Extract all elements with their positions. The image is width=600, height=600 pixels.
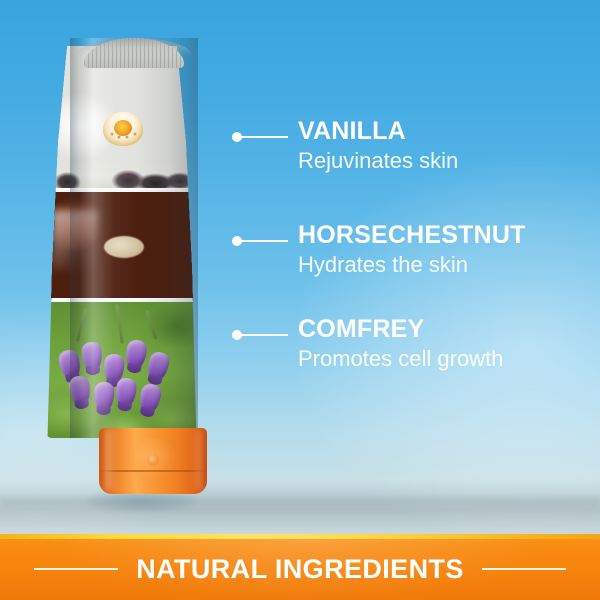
chestnut-pale-shell [104,236,144,258]
callout-subtitle: Rejuvinates skin [298,149,458,173]
bottom-banner: NATURAL INGREDIENTS [0,534,600,600]
callout-title: COMFREY [298,316,503,342]
callout-title: HORSECHESTNUT [298,222,526,248]
cap-highlight-right [189,430,202,490]
callout-text-group: HORSECHESTNUT Hydrates the skin [298,222,526,277]
product-tube [58,38,210,498]
cap-highlight-left [105,430,121,490]
banner-rule-left [34,568,118,570]
vanilla-pods [46,164,198,190]
callout-text-group: COMFREY Promotes cell growth [298,316,503,371]
callout-leader-line [232,136,288,138]
banner-content: NATURAL INGREDIENTS [0,534,600,600]
banner-title: NATURAL INGREDIENTS [136,554,464,585]
callout-title: VANILLA [298,118,458,144]
callout-leader-line [232,334,288,336]
orchid-stamen [108,130,140,144]
tube-body [46,38,198,438]
tube-band-comfrey [46,302,198,438]
callout-text-group: VANILLA Rejuvinates skin [298,118,458,173]
tube-seal-edge [76,38,192,56]
banner-rule-right [482,568,566,570]
infographic-canvas: VANILLA Rejuvinates skin HORSECHESTNUT H… [0,0,600,600]
chestnut-highlight [52,210,98,270]
tube-band-horsechestnut [46,192,198,300]
callout-subtitle: Promotes cell growth [298,347,503,371]
callout-subtitle: Hydrates the skin [298,253,526,277]
callout-leader-line [232,240,288,242]
tube-cap [99,428,207,494]
cap-emboss-dot [147,454,159,466]
